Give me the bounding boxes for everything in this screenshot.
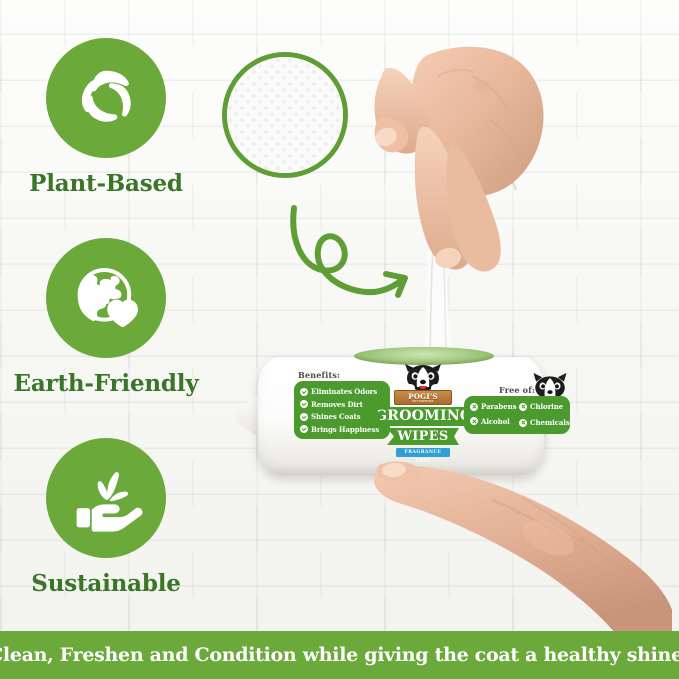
product-title-line2: WIPES bbox=[387, 428, 459, 445]
free-of-panel: Free of: Parabens Chlorine Alcohol bbox=[464, 385, 570, 434]
free-of-item: Chemicals bbox=[519, 417, 563, 430]
free-of-label: Chemicals bbox=[530, 418, 570, 427]
benefit-label: Brings Happiness bbox=[311, 425, 379, 434]
free-of-label: Alcohol bbox=[481, 417, 510, 426]
globe-heart-icon bbox=[46, 238, 166, 358]
check-icon bbox=[300, 425, 308, 433]
free-of-items: Parabens Chlorine Alcohol Chemicals bbox=[464, 396, 570, 434]
free-of-label: Chlorine bbox=[530, 402, 563, 411]
brand-wood-sign: POGI'S PET SUPPLIES bbox=[394, 390, 452, 405]
free-of-title: Free of: bbox=[464, 385, 570, 395]
feature-earth-friendly: Earth-Friendly bbox=[0, 238, 212, 397]
feature-plant-based: Plant-Based bbox=[0, 38, 212, 197]
check-icon bbox=[300, 388, 308, 396]
feature-sustainable: Sustainable bbox=[0, 438, 212, 597]
x-mark-icon bbox=[470, 417, 478, 425]
free-of-item: Parabens bbox=[470, 402, 514, 411]
product-title-line1: GROOMING bbox=[375, 407, 471, 426]
x-mark-icon bbox=[519, 419, 527, 427]
brand-subtitle: PET SUPPLIES bbox=[413, 400, 434, 403]
free-of-label: Parabens bbox=[481, 402, 516, 411]
feature-list: Plant-Based Earth-Friendly bbox=[0, 0, 212, 620]
brand-block: POGI'S PET SUPPLIES GROOMING WIPES FRAGR… bbox=[371, 363, 475, 457]
hand-sprout-icon bbox=[46, 438, 166, 558]
wipe-texture-swatch bbox=[222, 52, 348, 178]
product-marketing-image: Plant-Based Earth-Friendly bbox=[0, 0, 679, 679]
tagline-text: Clean, Freshen and Condition while givin… bbox=[0, 644, 679, 666]
hand-holding-package bbox=[372, 452, 672, 642]
benefit-label: Shines Coats bbox=[311, 412, 360, 421]
bottom-tagline-banner: Clean, Freshen and Condition while givin… bbox=[0, 631, 679, 679]
feature-label: Plant-Based bbox=[0, 170, 212, 197]
boston-terrier-logo-icon bbox=[400, 363, 446, 393]
free-of-item: Chlorine bbox=[519, 402, 563, 411]
check-icon bbox=[300, 413, 308, 421]
benefit-label: Eliminates Odors bbox=[311, 387, 377, 396]
wipe-texture-pattern bbox=[227, 57, 343, 173]
leaves-recycle-icon bbox=[46, 38, 166, 158]
free-of-item: Alcohol bbox=[470, 417, 514, 426]
feature-label: Sustainable bbox=[0, 570, 212, 597]
hand-pulling-wipe bbox=[352, 36, 562, 366]
x-mark-icon bbox=[519, 403, 527, 411]
x-mark-icon bbox=[470, 403, 478, 411]
brand-name: POGI'S bbox=[408, 393, 438, 400]
check-icon bbox=[300, 400, 308, 408]
benefit-label: Removes Dirt bbox=[311, 400, 363, 409]
feature-label: Earth-Friendly bbox=[0, 370, 212, 397]
